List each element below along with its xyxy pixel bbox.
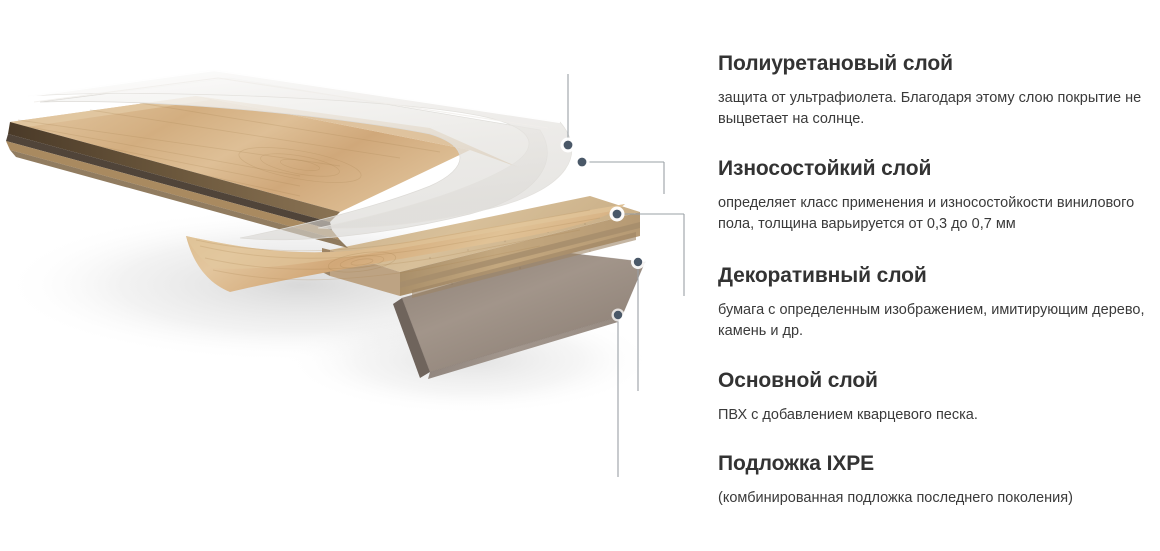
callout-title-ixpe-underlay: Подложка IXPE [718,452,1152,476]
callout-list: Полиуретановый слой защита от ультрафиол… [718,0,1160,551]
callout-title-polyurethane: Полиуретановый слой [718,52,1152,76]
callout-polyurethane: Полиуретановый слой защита от ультрафиол… [718,52,1152,130]
callout-wear-resistant: Износостойкий слой определяет класс прим… [718,157,1152,235]
diagram-canvas: Полиуретановый слой защита от ультрафиол… [0,0,1160,551]
callout-decorative: Декоративный слой бумага с определенным … [718,264,1152,342]
callout-text-base: ПВХ с добавлением кварцевого песка. [718,405,1152,426]
callout-base: Основной слой ПВХ с добавлением кварцево… [718,369,1152,426]
callout-text-ixpe-underlay: (комбинированная подложка последнего пок… [718,488,1152,509]
flooring-cutaway-illustration [0,0,700,551]
callout-ixpe-underlay: Подложка IXPE (комбинированная подложка … [718,452,1152,509]
callout-text-decorative: бумага с определенным изображением, имит… [718,300,1152,342]
callout-title-base: Основной слой [718,369,1152,393]
callout-text-polyurethane: защита от ультрафиолета. Благодаря этому… [718,88,1152,130]
callout-title-decorative: Декоративный слой [718,264,1152,288]
callout-title-wear-resistant: Износостойкий слой [718,157,1152,181]
callout-text-wear-resistant: определяет класс применения и износостой… [718,193,1152,235]
